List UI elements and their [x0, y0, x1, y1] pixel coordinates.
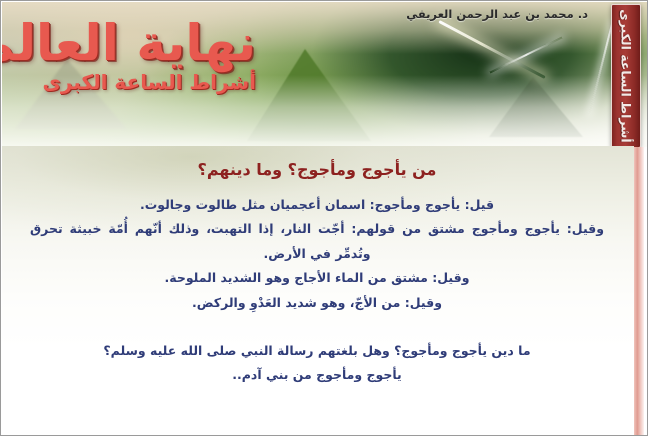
body-line-2: وقيل: يأجوج ومأجوج مشتق من قولهم: أجّت ا… — [30, 217, 604, 241]
spine-tab: أشراط الساعة الكبرى — [611, 4, 641, 148]
book-title-main: نهاية العالم — [2, 18, 256, 68]
book-title: نهاية العالم أشراط الساعة الكبرى — [2, 18, 256, 92]
header-banner-image: نهاية العالم أشراط الساعة الكبرى د. محمد… — [2, 2, 648, 147]
paragraph-spacer — [30, 315, 604, 339]
spine-tab-label: أشراط الساعة الكبرى — [619, 9, 634, 142]
section-heading: من يأجوج ومأجوج؟ وما دينهم؟ — [30, 146, 604, 179]
author-name: د. محمد بن عبد الرحمن العريفي — [406, 7, 588, 21]
document-page: نهاية العالم أشراط الساعة الكبرى د. محمد… — [0, 0, 648, 436]
body-line-7: يأجوج ومأجوج من بني آدم.. — [30, 363, 604, 387]
book-title-subtitle: أشراط الساعة الكبرى — [2, 72, 256, 92]
body-line-1: قيل: يأجوج ومأجوج: اسمان أعجميان مثل طال… — [30, 193, 604, 217]
body-text-block: قيل: يأجوج ومأجوج: اسمان أعجميان مثل طال… — [30, 193, 604, 388]
body-line-3: وتُدمِّر في الأرض. — [30, 242, 604, 266]
body-line-5: وقيل: من الأجّ، وهو شديد العَدْوِ والركض… — [30, 291, 604, 315]
content-area: من يأجوج ومأجوج؟ وما دينهم؟ قيل: يأجوج و… — [2, 146, 634, 435]
body-line-6: ما دين يأجوج ومأجوج؟ وهل بلغتهم رسالة ال… — [30, 339, 604, 363]
body-line-4: وقيل: مشتق من الماء الأجاج وهو الشديد ال… — [30, 266, 604, 290]
